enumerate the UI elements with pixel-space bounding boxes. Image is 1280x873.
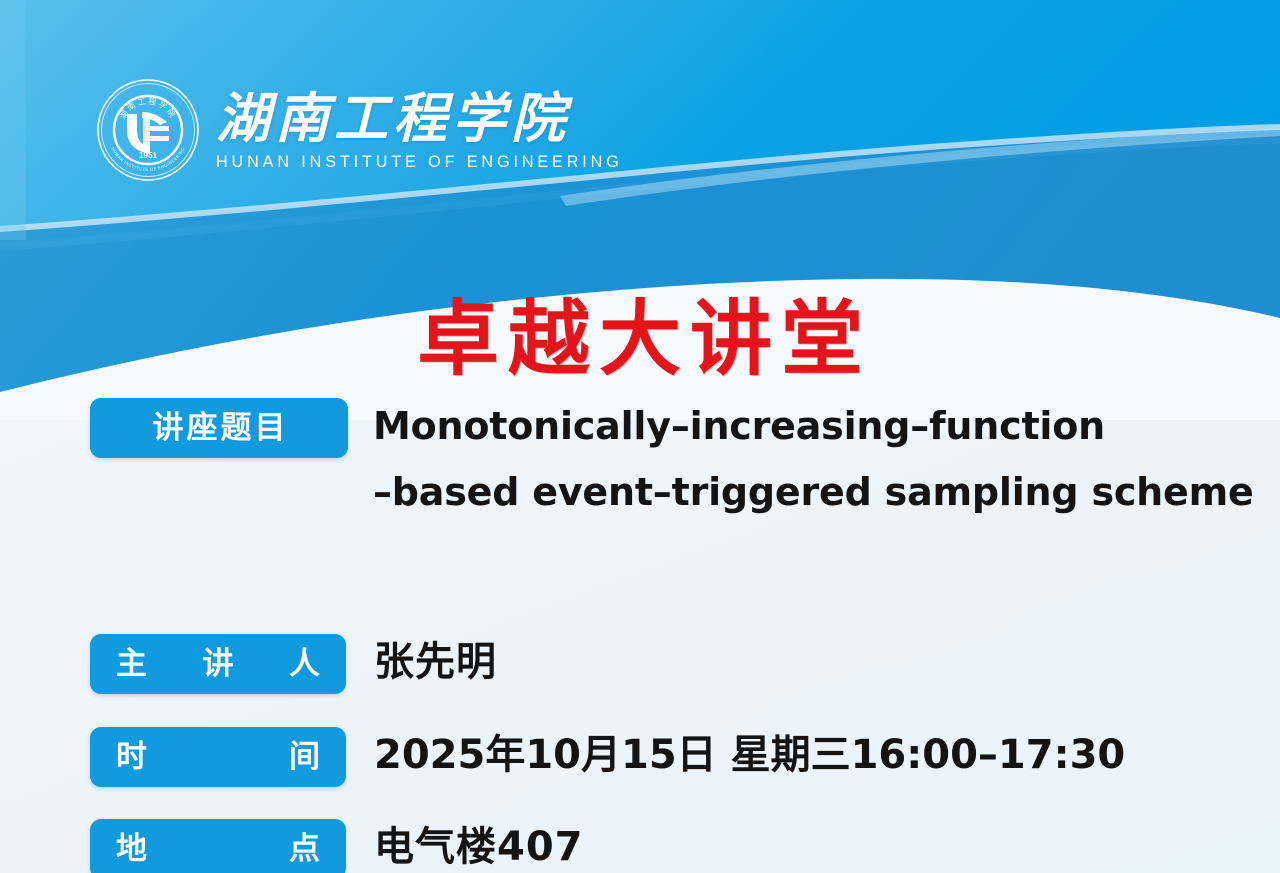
badge-speaker-label: 主 讲 人 — [90, 634, 346, 694]
info-row-place: 地 点 电气楼407 — [90, 819, 1240, 873]
badge-place-char-2: 点 — [289, 834, 320, 865]
topic-value: Monotonically–increasing–function –based… — [373, 405, 1254, 513]
info-row-time: 时 间 2025年10月15日 星期三16:00–17:30 — [90, 727, 1240, 787]
badge-topic-label: 讲座题目 — [90, 398, 348, 458]
place-value: 电气楼407 — [374, 825, 584, 870]
topic-line-1: Monotonically–increasing–function — [373, 405, 1254, 448]
institution-name-cn: 湖南工程学院 — [216, 90, 644, 146]
badge-time-label: 时 间 — [90, 727, 346, 787]
info-row-topic: 讲座题目 Monotonically–increasing–function –… — [90, 398, 1240, 513]
info-row-speaker: 主 讲 人 张先明 — [90, 634, 1240, 694]
badge-place-char-1: 地 — [116, 834, 147, 865]
badge-speaker-char-1: 主 — [116, 649, 147, 680]
poster-info-block: 讲座题目 Monotonically–increasing–function –… — [90, 398, 1240, 873]
topic-line-2: –based event–triggered sampling scheme — [373, 471, 1254, 514]
badge-time-char-1: 时 — [116, 742, 147, 773]
institution-logo-lockup: 1951 湖南工程学院 HUNAN INSTITUTE OF ENGINEERI… — [96, 78, 644, 182]
institution-name-en: HUNAN INSTITUTE OF ENGINEERING — [216, 152, 623, 172]
university-crest-icon: 1951 湖南工程学院 HUNAN INSTITUTE OF ENGINEERI… — [96, 78, 200, 182]
main-title-text: 卓越大讲堂 — [408, 272, 872, 391]
institution-wordmark: 湖南工程学院 HUNAN INSTITUTE OF ENGINEERING — [216, 88, 644, 171]
badge-place-label: 地 点 — [90, 819, 346, 873]
badge-speaker-char-3: 人 — [289, 649, 320, 680]
crest-year: 1951 — [139, 151, 157, 160]
poster-main-title: 卓越大讲堂 — [0, 272, 1280, 391]
badge-time-char-2: 间 — [289, 742, 320, 773]
poster-root: 1951 湖南工程学院 HUNAN INSTITUTE OF ENGINEERI… — [0, 0, 1280, 873]
speaker-value: 张先明 — [374, 640, 497, 685]
badge-speaker-char-2: 讲 — [203, 649, 234, 680]
time-value: 2025年10月15日 星期三16:00–17:30 — [374, 733, 1125, 778]
